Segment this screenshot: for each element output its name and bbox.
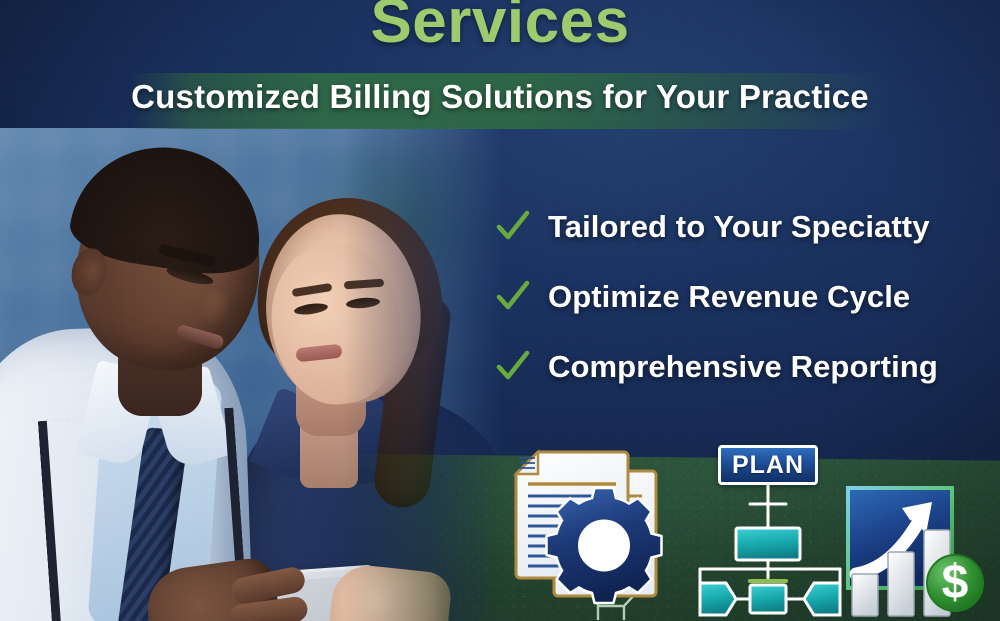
chart-bar-1 (852, 574, 878, 616)
hero-photo (0, 128, 505, 621)
check-icon (496, 350, 530, 384)
benefits-list: Tailored to Your Speciatty Optimize Reve… (496, 192, 966, 402)
flowchart-node-left (700, 583, 736, 615)
check-icon (496, 280, 530, 314)
banner-canvas: Services Customized Billing Solutions fo… (0, 0, 1000, 621)
flowchart-node-center (750, 585, 786, 613)
hero-photo-fade-mask (0, 128, 505, 621)
benefit-item-1: Tailored to Your Speciatty (496, 192, 966, 262)
page-title: Services (0, 0, 1000, 57)
check-icon (496, 210, 530, 244)
gear-icon (547, 488, 662, 603)
growth-chart-icon: $ (846, 482, 996, 621)
benefit-item-3: Comprehensive Reporting (496, 332, 966, 402)
flowchart-icon: PLAN (692, 443, 857, 621)
page-subtitle: Customized Billing Solutions for Your Pr… (0, 78, 1000, 116)
document-gear-icon (500, 438, 690, 621)
benefit-label-2: Optimize Revenue Cycle (548, 279, 910, 315)
flowchart-node-right (804, 583, 840, 615)
benefit-label-1: Tailored to Your Speciatty (548, 209, 930, 245)
benefit-item-2: Optimize Revenue Cycle (496, 262, 966, 332)
chart-bar-2 (888, 552, 914, 616)
dollar-badge: $ (927, 555, 983, 611)
flowchart-node-mid (736, 528, 800, 560)
dollar-symbol: $ (942, 556, 969, 609)
benefit-label-3: Comprehensive Reporting (548, 349, 938, 385)
